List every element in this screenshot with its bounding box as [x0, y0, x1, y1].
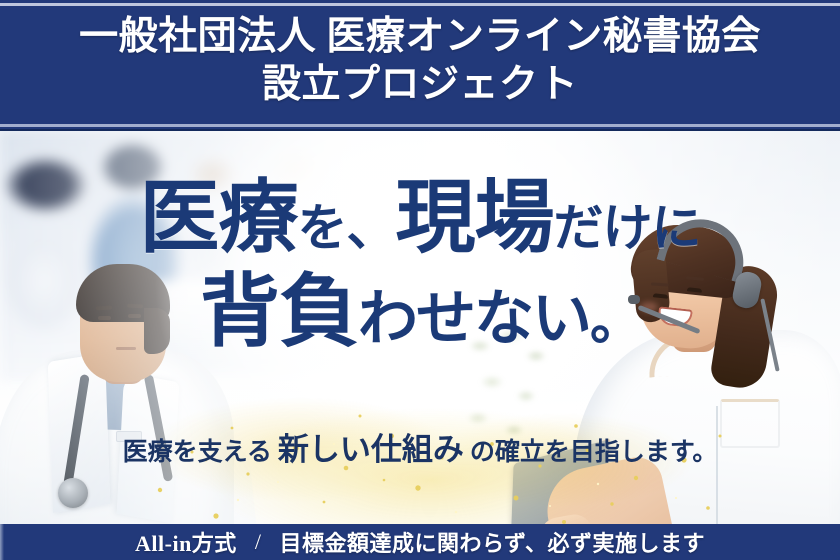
funding-note-label: 目標金額達成に関わらず、必ず実施します [279, 526, 705, 558]
footer-separator: / [237, 529, 280, 555]
operator-uniform-seam [716, 406, 718, 526]
header-bottom-rule-dark [0, 129, 840, 131]
subtitle-emphasis: 新しい仕組み [272, 432, 470, 467]
header-bar: 一般社団法人 医療オンライン秘書協会 設立プロジェクト [0, 0, 840, 131]
hero-subtitle: 医療を支える新しい仕組みの確立を目指します。 [0, 434, 840, 465]
hero-headline: 医療を、現場だけに 背負わせない。 [0, 179, 840, 353]
headline-l1-part4: だけに [554, 200, 701, 256]
funding-method-label: All-in方式 [135, 526, 237, 558]
header-bottom-rule [0, 124, 840, 127]
headline-l1-part1: 医療 [140, 175, 298, 263]
header-top-rule [0, 3, 840, 6]
subtitle-after: の確立を目指します。 [470, 439, 718, 466]
headline-l1-part2: を、 [298, 200, 396, 256]
header-title-block: 一般社団法人 医療オンライン秘書協会 設立プロジェクト [0, 14, 840, 108]
hero-photo-stage: 医療を、現場だけに 背負わせない。 医療を支える新しい仕組みの確立を目指します。 [0, 131, 840, 560]
header-title-line2: 設立プロジェクト [0, 62, 840, 108]
headline-l2-period: 。 [590, 294, 640, 351]
subtitle-before: 医療を支える [123, 439, 272, 466]
header-title-line1: 一般社団法人 医療オンライン秘書協会 [0, 14, 840, 60]
headline-l2-part1: 背負 [200, 269, 358, 357]
footer-bar: All-in方式 / 目標金額達成に関わらず、必ず実施します [0, 524, 840, 560]
headline-line-1: 医療を、現場だけに [0, 179, 840, 259]
project-banner: 一般社団法人 医療オンライン秘書協会 設立プロジェクト [0, 0, 840, 560]
headline-line-2: 背負わせない。 [0, 273, 840, 353]
headline-l2-part2: わせない [358, 286, 590, 352]
headline-l1-part3: 現場 [396, 175, 554, 263]
footer-text-block: All-in方式 / 目標金額達成に関わらず、必ず実施します [0, 524, 840, 560]
